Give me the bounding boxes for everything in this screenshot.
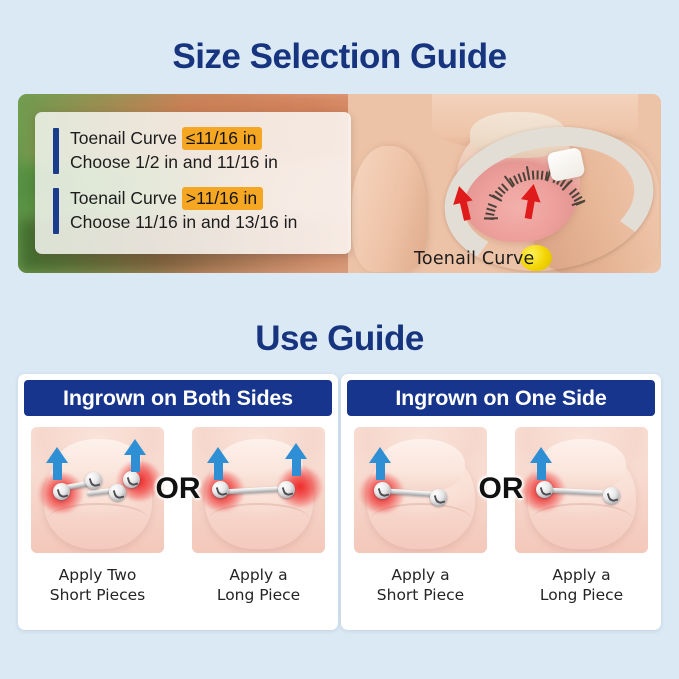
toe-illustration-card [31, 427, 164, 553]
option-short-piece-one: Apply a Short Piece [354, 427, 487, 605]
rule-1-prefix: Toenail Curve [70, 128, 182, 148]
use-guide-title: Use Guide [0, 318, 679, 360]
rule-2-choose: Choose 11/16 in and 13/16 in [70, 212, 297, 232]
option-caption: Apply a Long Piece [192, 565, 325, 605]
nail-brace-hook [85, 472, 102, 489]
size-guide-photo: Toenail Curve Toenail Curve ≤11/16 in Ch… [18, 94, 661, 273]
rule-marker-bar [53, 128, 59, 174]
option-two-short-pieces: Apply Two Short Pieces [31, 427, 164, 605]
rule-2-highlight: >11/16 in [182, 187, 263, 210]
toe-illustration-card [192, 427, 325, 553]
panel-ingrown-both-sides: Ingrown on Both Sides Apply Two Short Pi… [18, 374, 338, 630]
size-rule-row: Toenail Curve >11/16 in Choose 11/16 in … [35, 186, 351, 234]
or-separator-left: OR [156, 472, 201, 506]
nail-brace-hook [603, 487, 620, 504]
or-separator-right: OR [479, 472, 524, 506]
nail-brace-hook [536, 481, 553, 498]
option-long-piece-both: Apply a Long Piece [192, 427, 325, 605]
toe-illustration-card [354, 427, 487, 553]
rule-marker-bar [53, 188, 59, 234]
toe-measurement-illustration: Toenail Curve [348, 94, 661, 273]
size-rule-row: Toenail Curve ≤11/16 in Choose 1/2 in an… [35, 126, 351, 174]
nail-brace-hook [278, 481, 295, 498]
size-selection-title: Size Selection Guide [0, 36, 679, 78]
panel-body-one-side: Apply a Short Piece OR Apply a Long Piec… [341, 416, 661, 605]
toe-illustration-card [515, 427, 648, 553]
rule-1-choose: Choose 1/2 in and 11/16 in [70, 152, 278, 172]
nail-brace-hook [430, 489, 447, 506]
size-rules-card: Toenail Curve ≤11/16 in Choose 1/2 in an… [35, 112, 351, 254]
panel-ingrown-one-side: Ingrown on One Side Apply a Short Piece … [341, 374, 661, 630]
option-caption: Apply a Long Piece [515, 565, 648, 605]
rule-text: Toenail Curve >11/16 in Choose 11/16 in … [70, 186, 297, 234]
panel-header-one-side: Ingrown on One Side [347, 380, 655, 416]
nail-brace-hook [53, 483, 70, 500]
toenail-curve-caption: Toenail Curve [414, 249, 535, 269]
nail-brace-hook [109, 484, 126, 501]
panel-header-both-sides: Ingrown on Both Sides [24, 380, 332, 416]
panel-body-both-sides: Apply Two Short Pieces OR Apply a Long P… [18, 416, 338, 605]
nail-brace-hook [212, 481, 229, 498]
nail-brace-hook [374, 482, 391, 499]
option-caption: Apply Two Short Pieces [31, 565, 164, 605]
rule-1-highlight: ≤11/16 in [182, 127, 263, 150]
rule-2-prefix: Toenail Curve [70, 188, 182, 208]
option-caption: Apply a Short Piece [354, 565, 487, 605]
rule-text: Toenail Curve ≤11/16 in Choose 1/2 in an… [70, 126, 278, 174]
nail-brace-hook [123, 471, 140, 488]
option-long-piece-one: Apply a Long Piece [515, 427, 648, 605]
